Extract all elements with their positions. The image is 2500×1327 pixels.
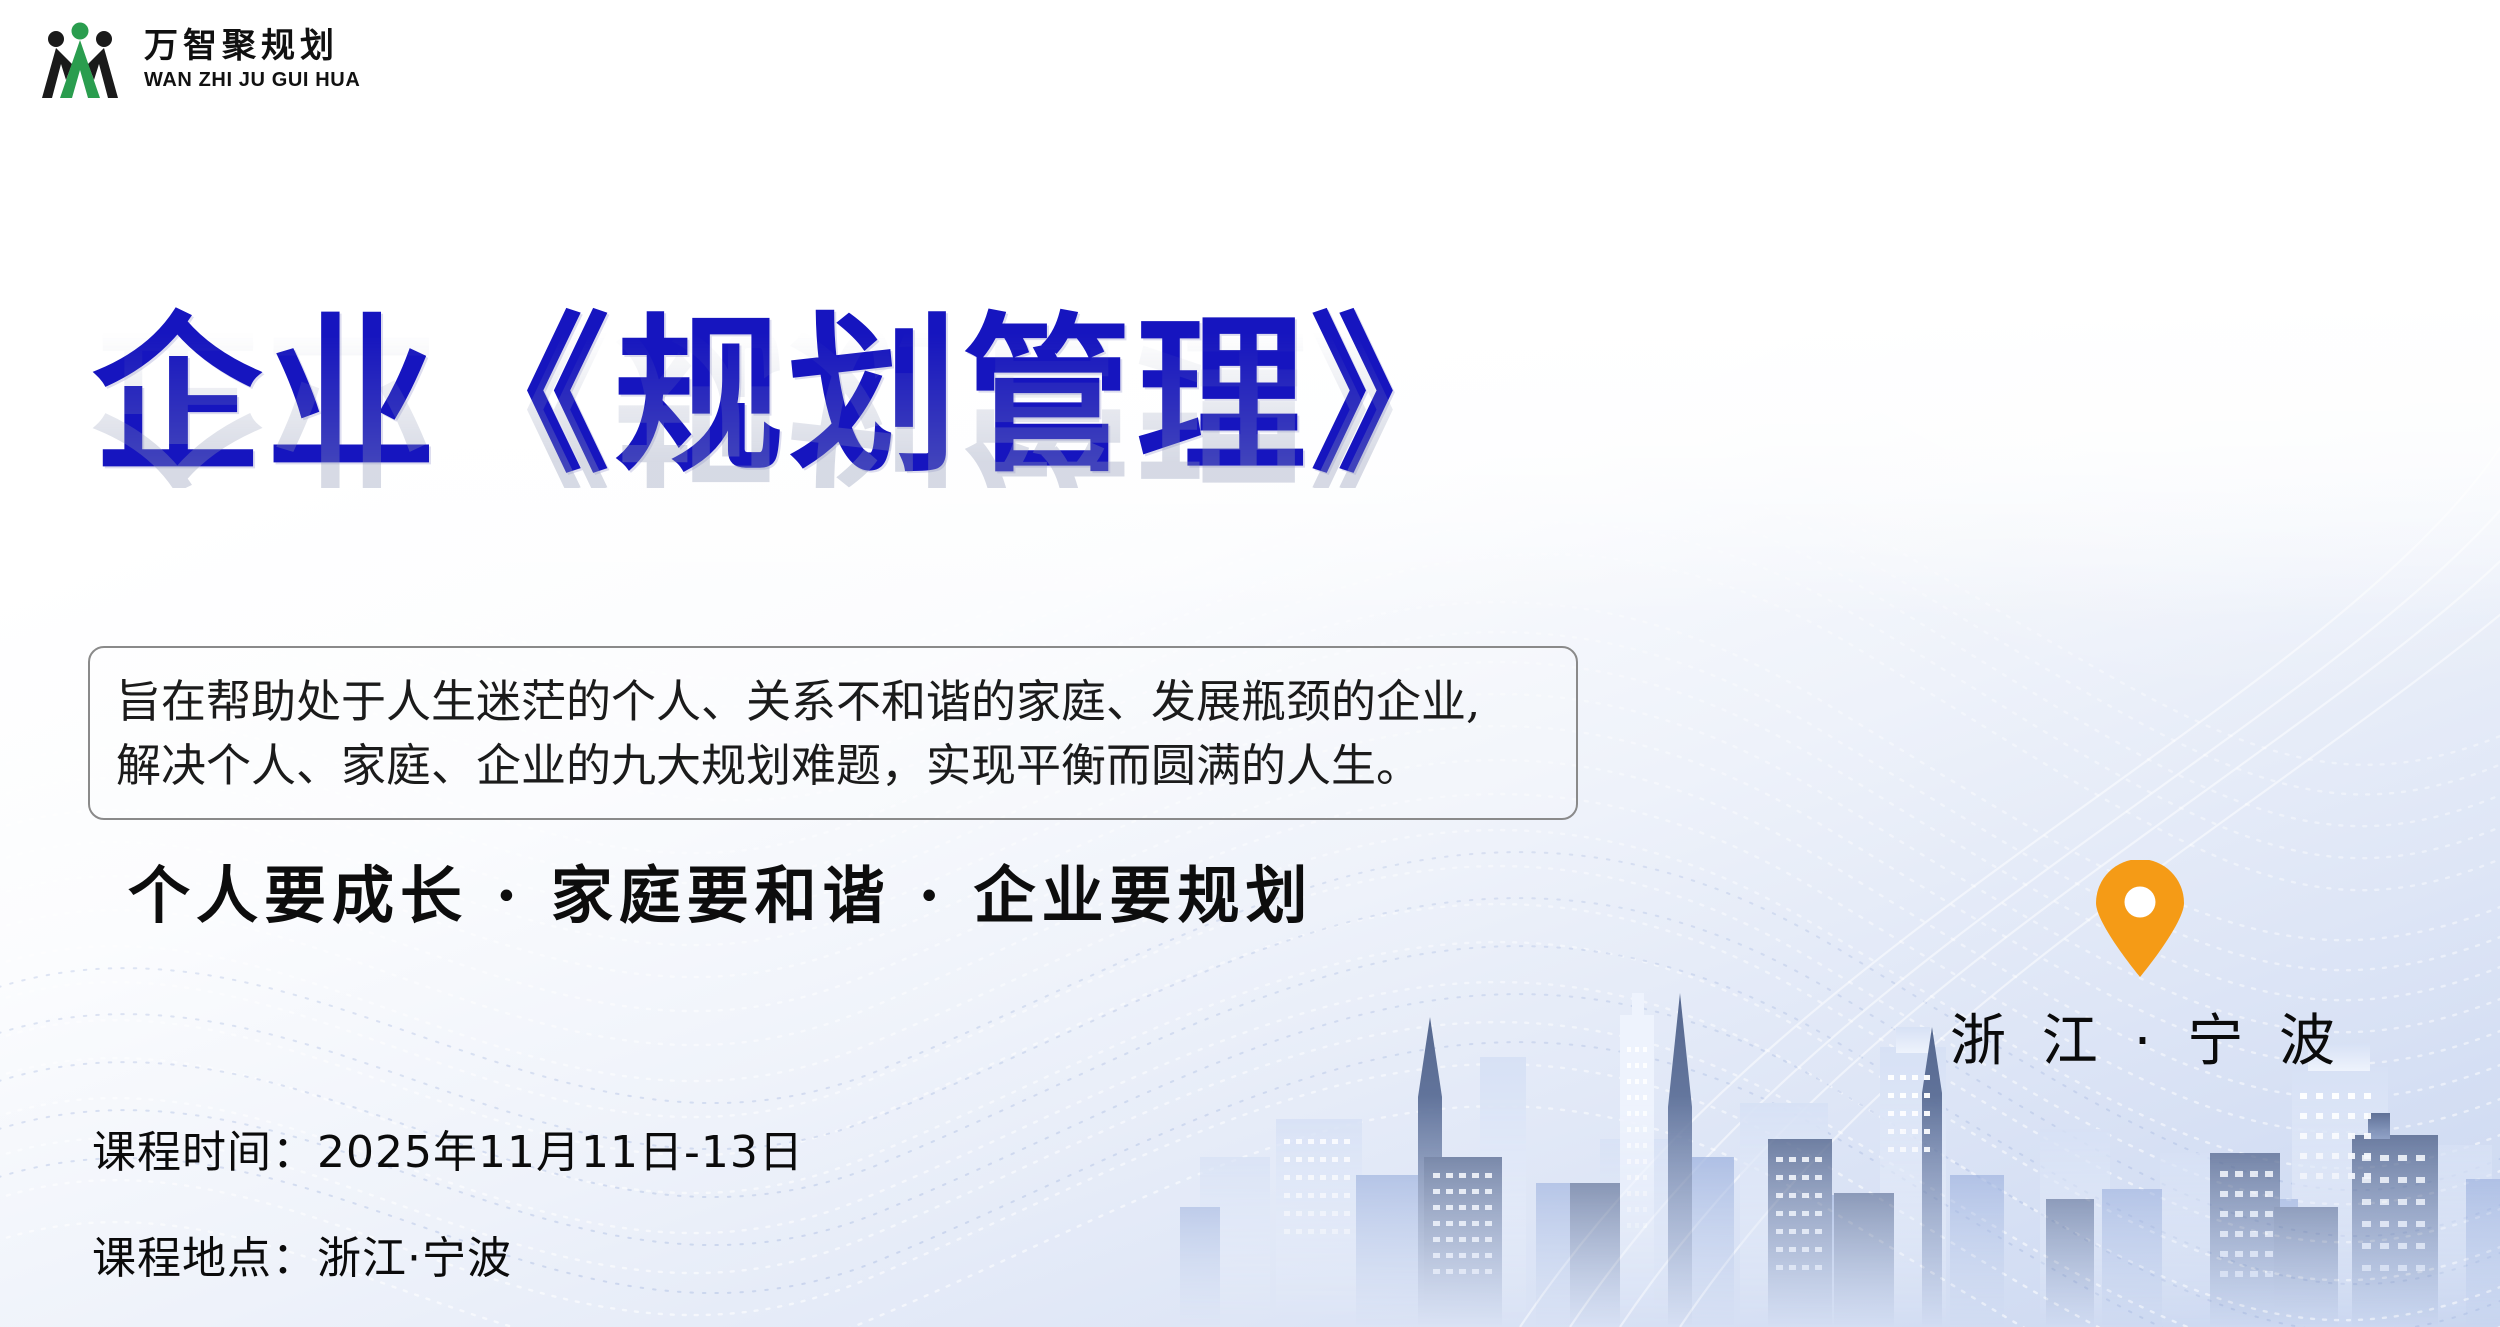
description-box: 旨在帮助处于人生迷茫的个人、关系不和谐的家庭、发展瓶颈的企业, 解决个人、家庭、… <box>88 646 1578 820</box>
brand-logo-text: 万智聚规划 WAN ZHI JU GUI HUA <box>144 29 360 90</box>
location-badge: 浙 江 · 宁 波 <box>1950 860 2330 1077</box>
hero-title-block: 企业《规划管理》 企业《规划管理》 <box>92 312 1692 658</box>
description-line-1: 旨在帮助处于人生迷茫的个人、关系不和谐的家庭、发展瓶颈的企业, <box>116 670 1550 734</box>
brand-name-cn: 万智聚规划 <box>144 29 360 63</box>
poster-canvas: 万智聚规划 WAN ZHI JU GUI HUA 企业《规划管理》 企业《规划管… <box>0 0 2500 1327</box>
page-title-reflection: 企业《规划管理》 <box>92 318 1692 488</box>
brand-logo[interactable]: 万智聚规划 WAN ZHI JU GUI HUA <box>30 18 360 100</box>
description-line-2: 解决个人、家庭、企业的九大规划难题，实现平衡而圆满的人生。 <box>116 734 1550 798</box>
three-people-mountain-logo-icon <box>30 18 130 100</box>
course-place: 课程地点：浙江·宁波 <box>92 1222 804 1286</box>
map-pin-icon <box>2094 860 2186 978</box>
tagline: 个人要成长 · 家庭要和谐 · 企业要规划 <box>128 845 1314 935</box>
brand-name-en: WAN ZHI JU GUI HUA <box>144 70 360 90</box>
location-label: 浙 江 · 宁 波 <box>1950 996 2330 1077</box>
course-meta: 课程时间：2025年11月11日-13日 课程地点：浙江·宁波 <box>92 1116 804 1286</box>
course-time: 课程时间：2025年11月11日-13日 <box>92 1116 804 1180</box>
